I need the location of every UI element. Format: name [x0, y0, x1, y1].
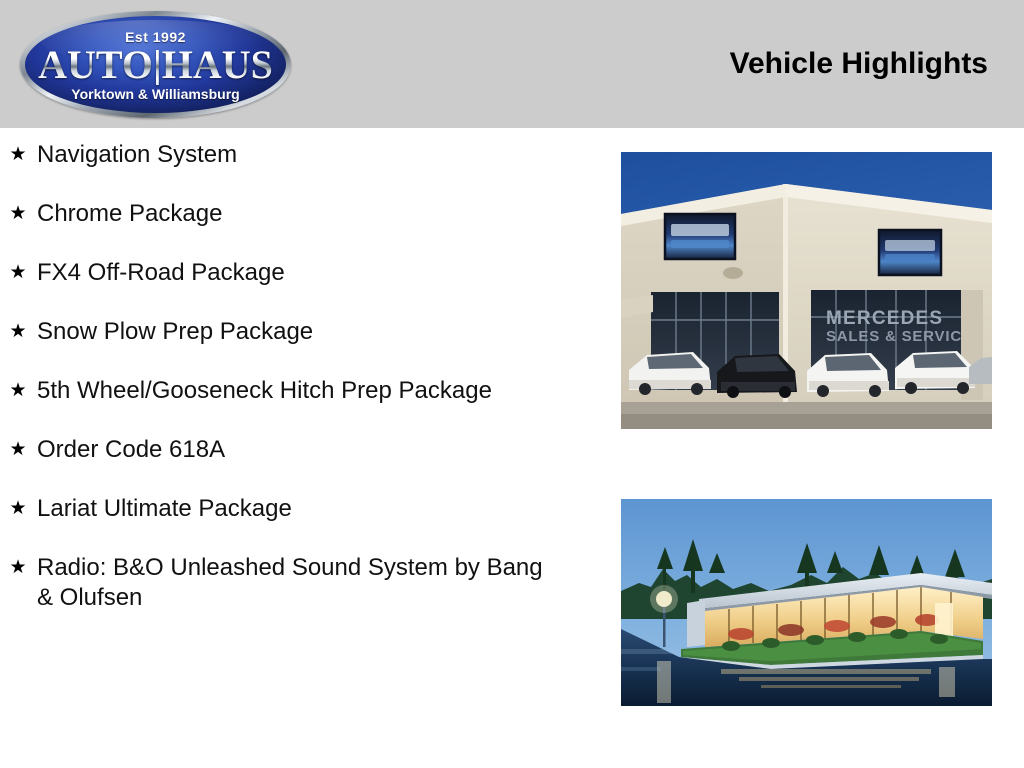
logo-text-group: Est 1992 AUTO|HAUS Yorktown & Williamsbu… — [20, 11, 291, 118]
list-item: ★ Radio: B&O Unleashed Sound System by B… — [0, 553, 600, 613]
list-item-label: Navigation System — [28, 140, 237, 170]
star-bullet-icon: ★ — [0, 376, 28, 406]
logo-brand-name: AUTO|HAUS — [38, 45, 273, 86]
list-item: ★ 5th Wheel/Gooseneck Hitch Prep Package — [0, 376, 600, 406]
star-bullet-icon: ★ — [0, 494, 28, 524]
vehicle-highlights-list: ★ Navigation System ★ Chrome Package ★ F… — [0, 140, 600, 642]
dealership-dusk-artwork — [621, 499, 992, 706]
list-item: ★ Chrome Package — [0, 199, 600, 229]
dealership-daytime-artwork: MERCEDES SALES & SERVICE — [621, 152, 992, 429]
list-item-label: Snow Plow Prep Package — [28, 317, 313, 347]
star-bullet-icon: ★ — [0, 199, 28, 229]
list-item: ★ FX4 Off-Road Package — [0, 258, 600, 288]
star-bullet-icon: ★ — [0, 140, 28, 170]
star-bullet-icon: ★ — [0, 317, 28, 347]
logo-locations-label: Yorktown & Williamsburg — [71, 87, 239, 101]
list-item-label: Radio: B&O Unleashed Sound System by Ban… — [28, 553, 562, 613]
dealership-dusk-photo — [621, 499, 992, 706]
list-item-label: Chrome Package — [28, 199, 222, 229]
list-item: ★ Order Code 618A — [0, 435, 600, 465]
autohaus-logo: Est 1992 AUTO|HAUS Yorktown & Williamsbu… — [20, 11, 291, 118]
list-item: ★ Snow Plow Prep Package — [0, 317, 600, 347]
page-title: Vehicle Highlights — [730, 49, 988, 79]
dealership-daytime-photo: MERCEDES SALES & SERVICE — [621, 152, 992, 429]
list-item-label: Lariat Ultimate Package — [28, 494, 292, 524]
list-item-label: FX4 Off-Road Package — [28, 258, 285, 288]
list-item: ★ Lariat Ultimate Package — [0, 494, 600, 524]
star-bullet-icon: ★ — [0, 435, 28, 465]
svg-text:MERCEDES: MERCEDES — [826, 308, 943, 329]
list-item-label: Order Code 618A — [28, 435, 225, 465]
svg-text:SALES & SERVICE: SALES & SERVICE — [826, 328, 973, 345]
star-bullet-icon: ★ — [0, 553, 28, 583]
star-bullet-icon: ★ — [0, 258, 28, 288]
list-item: ★ Navigation System — [0, 140, 600, 170]
list-item-label: 5th Wheel/Gooseneck Hitch Prep Package — [28, 376, 492, 406]
